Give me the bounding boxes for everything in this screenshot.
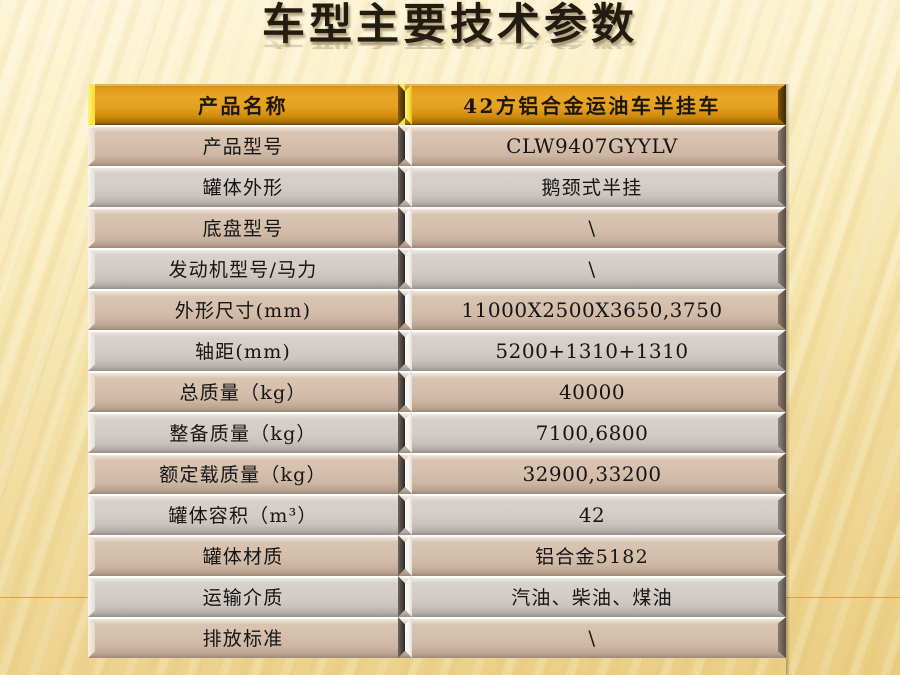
cell-top-highlight [398,330,786,332]
table-row: 底盘型号\ [88,207,786,248]
table-row-value-cell: 32900,33200 [398,453,786,494]
column-divider-bevel [398,576,412,617]
table-row-value-text: 5200+1310+1310 [495,339,688,363]
row-right-bevel [778,494,786,535]
table-row-label-cell: 运输介质 [88,576,398,617]
table-row-value-text: 铝合金5182 [535,542,649,569]
column-divider-bevel [398,166,412,207]
divider-highlight-face [405,535,412,576]
table-row-value-text: 7100,6800 [536,421,649,445]
table-row-label-text: 排放标准 [203,624,284,651]
divider-highlight-face [405,412,412,453]
table-row-value-text: 鹅颈式半挂 [541,173,642,200]
row-right-bevel [778,330,786,371]
table-row: 发动机型号/马力\ [88,248,786,289]
table-row: 整备质量（kg）7100,6800 [88,412,786,453]
row-left-bevel [88,535,95,576]
column-divider-bevel [398,617,412,658]
table-header-value-text: 42方铝合金运油车半挂车 [463,90,721,119]
divider-highlight-face [405,576,412,617]
column-divider-bevel [398,289,412,330]
table-row-label-cell: 轴距(mm) [88,330,398,371]
table-row-label-text: 整备质量（kg） [169,419,316,446]
table-row-value-text: 汽油、柴油、煤油 [511,583,673,610]
table-row-label-cell: 罐体容积（m³） [88,494,398,535]
row-left-bevel [88,617,95,658]
table-row-value-cell: CLW9407GYYLV [398,125,786,166]
cell-top-highlight [88,412,398,414]
row-left-bevel [88,330,95,371]
cell-top-highlight [398,453,786,455]
table-row-label-text: 发动机型号/马力 [168,255,317,282]
table-header-value-cell: 42方铝合金运油车半挂车 [398,84,786,125]
divider-shadow-face [398,248,405,289]
row-left-bevel [88,125,95,166]
divider-shadow-face [398,412,405,453]
table-row-label-text: 罐体材质 [203,542,284,569]
table-row: 罐体外形鹅颈式半挂 [88,166,786,207]
row-right-bevel [778,535,786,576]
column-divider-bevel [398,84,412,125]
table-row-label-cell: 罐体外形 [88,166,398,207]
column-divider-bevel [398,207,412,248]
table-row: 运输介质汽油、柴油、煤油 [88,576,786,617]
table-row: 总质量（kg）40000 [88,371,786,412]
divider-shadow-face [398,617,405,658]
table-row-value-text: 11000X2500X3650,3750 [461,298,722,322]
slide-title-block: 车型主要技术参数 车型主要技术参数 [0,4,900,92]
row-left-bevel [88,289,95,330]
table-row-label-cell: 额定载质量（kg） [88,453,398,494]
divider-highlight-face [405,289,412,330]
table-row-label-text: 总质量（kg） [179,378,306,405]
cell-top-highlight [88,576,398,578]
column-divider-bevel [398,412,412,453]
spec-table-shadow [786,84,790,675]
table-row-label-cell: 底盘型号 [88,207,398,248]
table-row-value-cell: 汽油、柴油、煤油 [398,576,786,617]
divider-highlight-face [405,248,412,289]
cell-top-highlight [88,494,398,496]
divider-shadow-face [398,330,405,371]
row-left-bevel [88,84,95,125]
table-row-label-text: 罐体外形 [203,173,284,200]
cell-top-highlight [88,248,398,250]
divider-highlight-face [405,125,412,166]
divider-highlight-face [405,207,412,248]
page-title: 车型主要技术参数 [0,4,900,47]
divider-shadow-face [398,207,405,248]
divider-highlight-face [405,371,412,412]
slide-canvas: 车型主要技术参数 车型主要技术参数 产品名称42方铝合金运油车半挂车产品型号CL… [0,0,900,675]
column-divider-bevel [398,453,412,494]
divider-shadow-face [398,166,405,207]
table-row-label-cell: 外形尺寸(mm) [88,289,398,330]
divider-shadow-face [398,576,405,617]
row-right-bevel [778,371,786,412]
table-row-value-cell: 40000 [398,371,786,412]
table-row: 罐体容积（m³）42 [88,494,786,535]
column-divider-bevel [398,371,412,412]
table-row-value-text: CLW9407GYYLV [506,134,678,158]
cell-top-highlight [398,289,786,291]
table-row-value-text: 42 [579,503,605,527]
table-row-value-cell: 铝合金5182 [398,535,786,576]
row-left-bevel [88,371,95,412]
row-right-bevel [778,412,786,453]
divider-shadow-face [398,289,405,330]
cell-top-highlight [398,412,786,414]
table-row-label-text: 产品型号 [203,132,284,159]
cell-top-highlight [88,207,398,209]
table-row-value-cell: 鹅颈式半挂 [398,166,786,207]
table-row-label-cell: 排放标准 [88,617,398,658]
table-row-value-cell: 42 [398,494,786,535]
table-row-label-text: 外形尺寸(mm) [175,296,311,323]
table-row: 轴距(mm)5200+1310+1310 [88,330,786,371]
table-row-value-cell: 11000X2500X3650,3750 [398,289,786,330]
divider-shadow-face [398,84,405,125]
page-title-reflection: 车型主要技术参数 [0,25,900,49]
divider-highlight-face [405,617,412,658]
row-left-bevel [88,166,95,207]
table-row-label-cell: 罐体材质 [88,535,398,576]
cell-top-highlight [398,166,786,168]
table-row-value-text: 40000 [559,380,625,404]
table-row: 外形尺寸(mm)11000X2500X3650,3750 [88,289,786,330]
table-row: 排放标准\ [88,617,786,658]
divider-shadow-face [398,494,405,535]
table-row-value-text: \ [588,257,595,281]
divider-shadow-face [398,453,405,494]
divider-highlight-face [405,330,412,371]
cell-top-highlight [88,330,398,332]
divider-highlight-face [405,166,412,207]
table-header-row: 产品名称42方铝合金运油车半挂车 [88,84,786,125]
table-row-value-text: \ [588,216,595,240]
row-right-bevel [778,453,786,494]
row-left-bevel [88,207,95,248]
row-left-bevel [88,412,95,453]
table-row-value-text: \ [588,626,595,650]
divider-highlight-face [405,494,412,535]
divider-shadow-face [398,535,405,576]
cell-top-highlight [398,125,786,127]
cell-top-highlight [88,125,398,127]
cell-top-highlight [398,535,786,537]
row-right-bevel [778,84,786,125]
table-row: 产品型号CLW9407GYYLV [88,125,786,166]
table-row-label-text: 罐体容积（m³） [168,501,317,528]
divider-shadow-face [398,371,405,412]
cell-top-highlight [398,576,786,578]
column-divider-bevel [398,535,412,576]
column-divider-bevel [398,248,412,289]
cell-top-highlight [398,371,786,373]
column-divider-bevel [398,125,412,166]
table-row-value-cell: 5200+1310+1310 [398,330,786,371]
table-row-label-text: 额定载质量（kg） [159,460,326,487]
table-row: 罐体材质铝合金5182 [88,535,786,576]
table-row-label-cell: 总质量（kg） [88,371,398,412]
row-left-bevel [88,494,95,535]
divider-highlight-face [405,84,412,125]
table-row-value-cell: \ [398,248,786,289]
row-right-bevel [778,166,786,207]
cell-top-highlight [88,371,398,373]
table-row: 额定载质量（kg）32900,33200 [88,453,786,494]
row-right-bevel [778,289,786,330]
row-left-bevel [88,576,95,617]
row-right-bevel [778,207,786,248]
column-divider-bevel [398,330,412,371]
column-divider-bevel [398,494,412,535]
cell-top-highlight [398,617,786,619]
row-left-bevel [88,248,95,289]
row-left-bevel [88,453,95,494]
table-header-label-text: 产品名称 [198,90,288,119]
cell-top-highlight [88,453,398,455]
row-right-bevel [778,576,786,617]
cell-top-highlight [88,166,398,168]
table-row-value-cell: \ [398,207,786,248]
divider-highlight-face [405,453,412,494]
table-row-value-text: 32900,33200 [522,462,661,486]
cell-top-highlight [398,494,786,496]
row-right-bevel [778,248,786,289]
cell-top-highlight [88,535,398,537]
table-header-label-cell: 产品名称 [88,84,398,125]
cell-top-highlight [398,207,786,209]
cell-top-highlight [88,617,398,619]
cell-top-highlight [398,248,786,250]
table-row-label-cell: 整备质量（kg） [88,412,398,453]
table-row-label-text: 运输介质 [203,583,284,610]
cell-top-highlight [88,289,398,291]
cell-top-highlight [398,84,786,86]
spec-table: 产品名称42方铝合金运油车半挂车产品型号CLW9407GYYLV罐体外形鹅颈式半… [88,84,786,658]
table-row-label-text: 底盘型号 [203,214,284,241]
table-row-value-cell: \ [398,617,786,658]
cell-top-highlight [88,84,398,86]
table-row-label-cell: 发动机型号/马力 [88,248,398,289]
table-row-label-cell: 产品型号 [88,125,398,166]
table-row-label-text: 轴距(mm) [195,337,291,364]
table-row-value-cell: 7100,6800 [398,412,786,453]
row-right-bevel [778,617,786,658]
row-right-bevel [778,125,786,166]
divider-shadow-face [398,125,405,166]
